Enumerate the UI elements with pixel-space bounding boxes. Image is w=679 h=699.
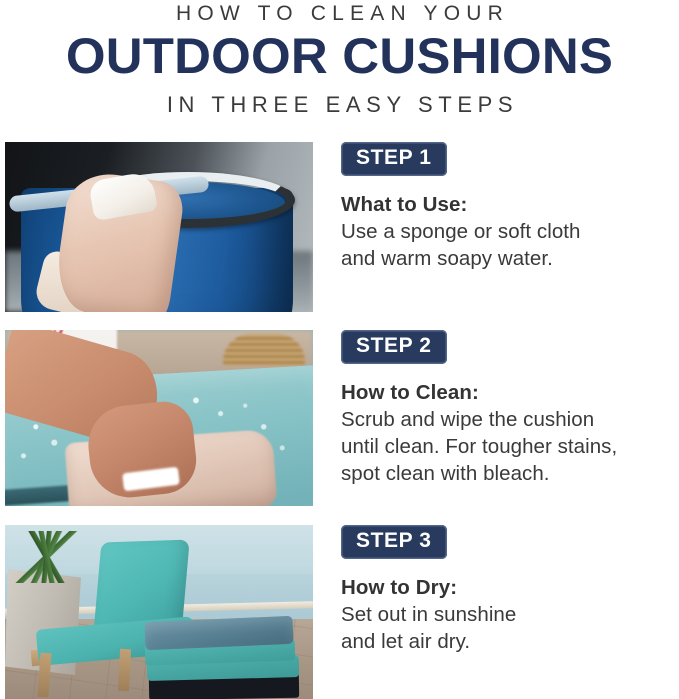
header-line-1: HOW TO CLEAN YOUR [0,2,679,26]
header-line-3: IN THREE EASY STEPS [0,92,679,118]
step-1-body: Use a sponge or soft cloth and warm soap… [341,218,679,272]
chaise-leg-mid [118,649,131,692]
wicker-basket [223,334,305,366]
step-3-photo [5,525,313,699]
step-1-text: STEP 1 What to Use: Use a sponge or soft… [341,142,679,272]
step-2-photo [5,330,313,506]
step-row-1: STEP 1 What to Use: Use a sponge or soft… [0,142,679,312]
step-3-text: STEP 3 How to Dry: Set out in sunshine a… [341,525,679,655]
page-title: OUTDOOR CUSHIONS [0,28,679,84]
step-3-heading: How to Dry: [341,575,679,601]
step-3-badge: STEP 3 [341,525,447,559]
step-2-badge: STEP 2 [341,330,447,364]
step-row-2: STEP 2 How to Clean: Scrub and wipe the … [0,330,679,506]
step-2-text: STEP 2 How to Clean: Scrub and wipe the … [341,330,679,487]
step-row-3: STEP 3 How to Dry: Set out in sunshine a… [0,525,679,699]
step-2-body: Scrub and wipe the cushion until clean. … [341,406,679,487]
step-1-heading: What to Use: [341,192,679,218]
infographic-header: HOW TO CLEAN YOUR OUTDOOR CUSHIONS IN TH… [0,0,679,132]
agave-plant [9,531,85,583]
step-1-photo [5,142,313,312]
step-1-badge: STEP 1 [341,142,447,176]
step-3-body: Set out in sunshine and let air dry. [341,601,679,655]
step-2-heading: How to Clean: [341,380,679,406]
